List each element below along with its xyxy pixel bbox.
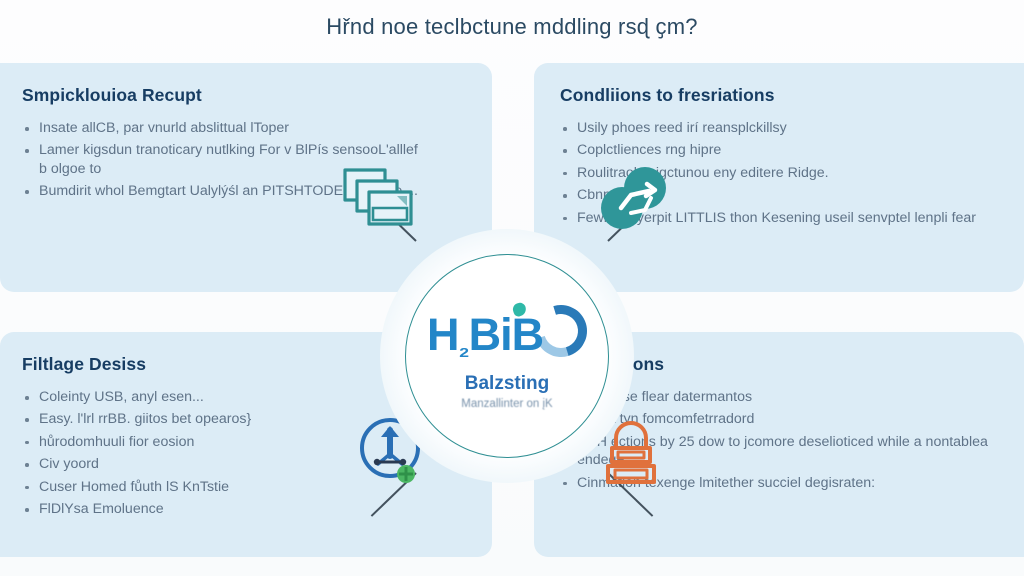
logo-wordmark: H₂BiB — [427, 309, 543, 361]
logo-letters-bib: BiB — [469, 309, 544, 360]
logo-subline: Manzallinter on įK — [461, 398, 552, 410]
stacked-documents-icon — [339, 162, 421, 232]
logo-wrap: H₂BiB — [421, 303, 593, 375]
logo-subscript: ₂ — [459, 334, 469, 362]
infographic-canvas: Hřnd noe teclbctune mddling rsɖ ҫm? Smpi… — [0, 0, 1024, 576]
center-hub-logo: H₂BiB Balzsting Manzallinter on įK — [405, 254, 609, 458]
list-item: FlDlYsa Emoluence — [22, 500, 422, 518]
exchange-arrows-icon — [595, 160, 673, 238]
quadrant-heading-bottom-left: Filtlage Desiss — [22, 354, 422, 375]
logo-letter-h: H — [427, 309, 459, 360]
quadrant-heading-top-right: Condliions to fresriations — [560, 85, 998, 106]
list-item: Coleinty USB, anyl esen... — [22, 388, 422, 406]
list-item: Insate allCB, par vnurld abslittual lTop… — [22, 119, 422, 137]
quadrant-heading-top-left: Smpicklouioa Recupt — [22, 85, 422, 106]
list-item: Coplctliences rng hipre — [560, 141, 998, 159]
logo-tagline: Balzsting — [465, 373, 549, 395]
page-title: Hřnd noe teclbctune mddling rsɖ ҫm? — [0, 14, 1024, 40]
list-item: Usily phoes reed irí reansplckillsy — [560, 119, 998, 137]
